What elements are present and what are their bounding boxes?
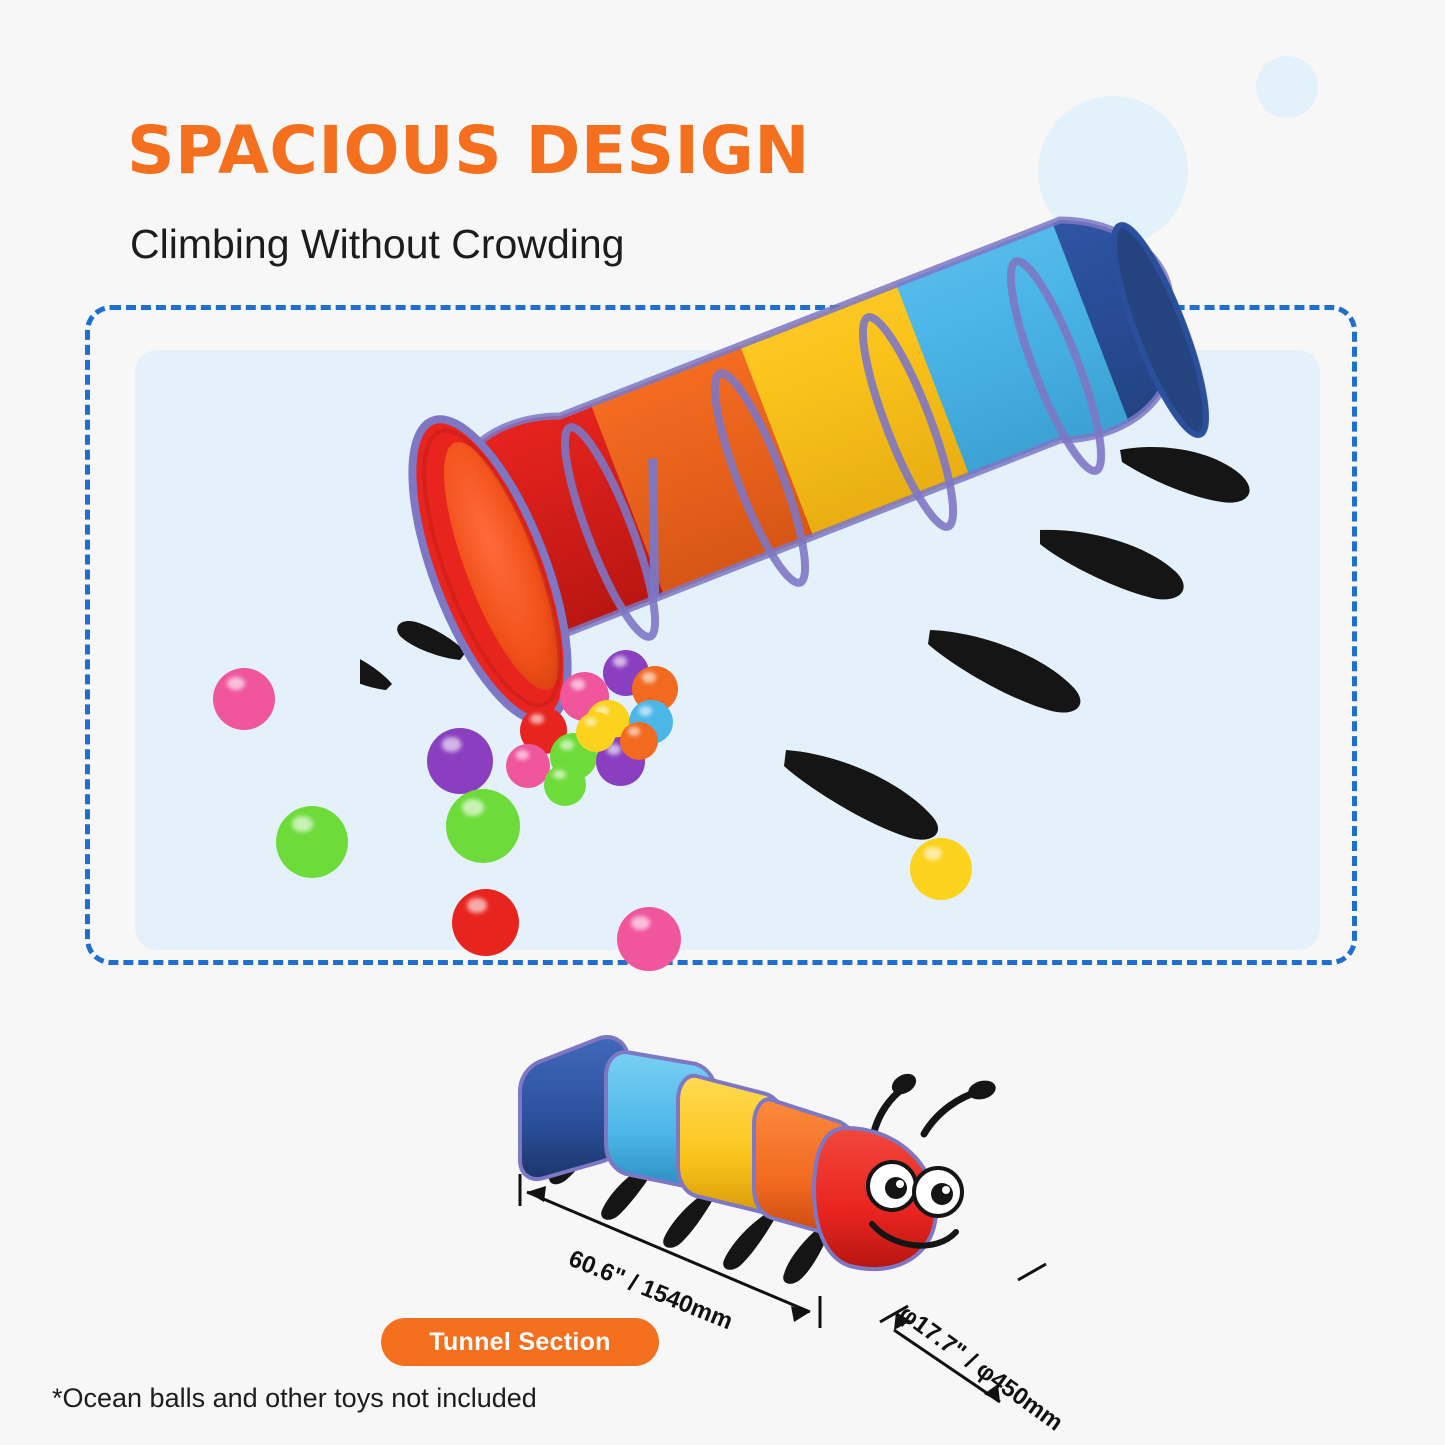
disclaimer-note: *Ocean balls and other toys not included [52, 1383, 537, 1414]
dimension-arrows [480, 1130, 1160, 1430]
decorative-bubble-small [1256, 56, 1318, 118]
ball-green-mid [446, 789, 520, 863]
ball-spilled [620, 722, 658, 760]
ball-green-left [276, 806, 348, 878]
ball-yellow-right [910, 838, 972, 900]
ball-pink-left [213, 668, 275, 730]
hero-product-image [360, 160, 1320, 880]
ball-pink-bottom [617, 907, 681, 971]
tunnel-section-badge: Tunnel Section [381, 1318, 659, 1366]
ball-spilled [544, 764, 586, 806]
product-infographic: SPACIOUS DESIGN Climbing Without Crowdin… [0, 0, 1445, 1445]
ball-purple [427, 728, 493, 794]
ball-spilled [576, 712, 616, 752]
ball-red-bottom [452, 889, 519, 956]
